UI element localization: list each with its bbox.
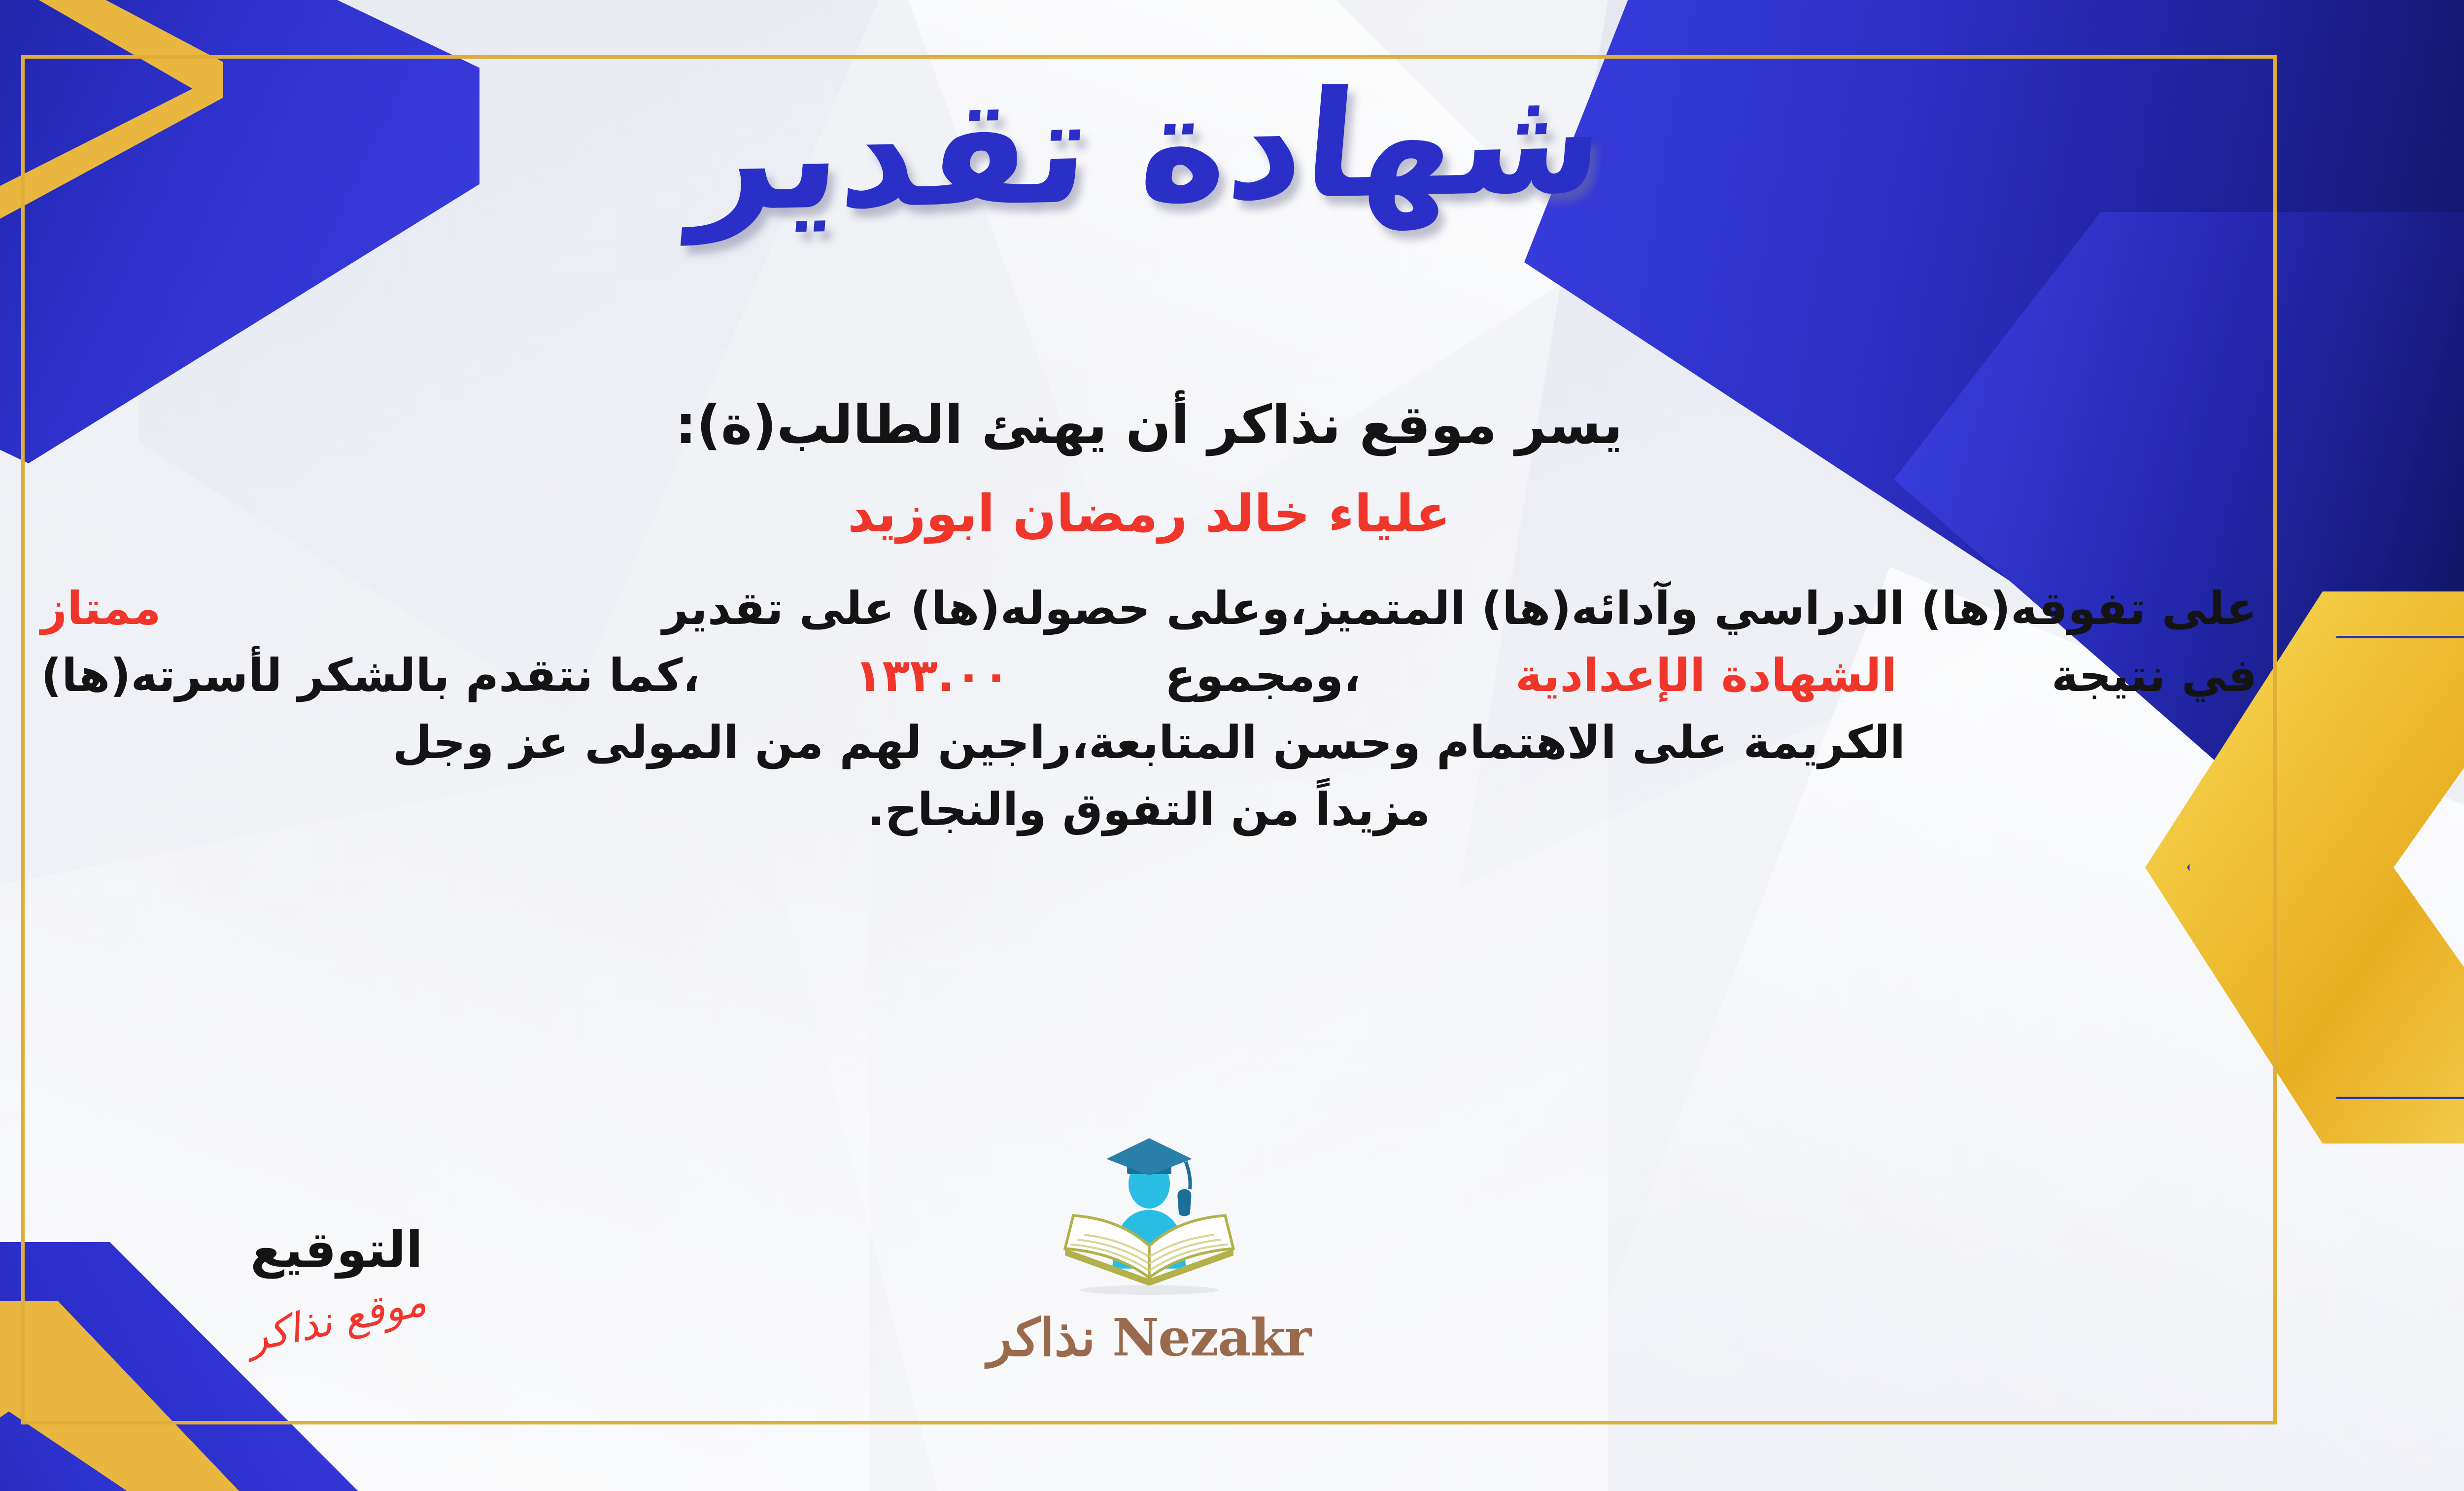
top-left-blue-chevron — [0, 0, 479, 463]
body-line-2-prefix: في نتيجة — [2052, 642, 2257, 709]
intro-line: يسر موقع نذاكر أن يهنئ الطالب(ة): — [41, 394, 2257, 456]
body-line-1-text: على تفوقه(ها) الدراسي وآدائه(ها) المتميز… — [662, 575, 2257, 642]
certificate-title: شهادة تقدير — [687, 55, 1611, 244]
grade-value: ممتاز — [41, 575, 161, 642]
body-line-1: على تفوقه(ها) الدراسي وآدائه(ها) المتميز… — [41, 575, 2257, 642]
certificate-canvas: شهادة تقدير يسر موقع نذاكر أن يهنئ الطال… — [0, 0, 2464, 1491]
total-score: ١٣٣.٠٠ — [855, 642, 1010, 709]
signature-label: التوقيع — [189, 1221, 484, 1279]
brand-logo-block: Nezakr نذاكر — [962, 1133, 1336, 1368]
top-left-gold-chevron-line — [0, 0, 223, 311]
body-line-2-middle: ،ومجموع — [1164, 642, 1361, 709]
body-line-2-suffix: ،كما نتقدم بالشكر لأسرته(ها) — [41, 642, 700, 709]
background-facet-f — [770, 739, 1608, 1491]
body-line-2: في نتيجة الشهادة الإعدادية ،ومجموع ١٣٣.٠… — [41, 642, 2257, 709]
exam-name: الشهادة الإعدادية — [1515, 642, 1897, 709]
brand-logo-text: Nezakr نذاكر — [962, 1307, 1336, 1368]
certificate-body: يسر موقع نذاكر أن يهنئ الطالب(ة): علياء … — [41, 394, 2257, 844]
student-name: علياء خالد رمضان ابوزيد — [41, 484, 2257, 544]
body-line-4: مزيداً من التفوق والنجاح. — [41, 776, 2257, 843]
signature-mark: موقع نذاكر — [243, 1278, 430, 1361]
certificate-title-area: شهادة تقدير — [0, 64, 2464, 234]
body-line-3: الكريمة على الاهتمام وحسن المتابعة،راجين… — [41, 709, 2257, 776]
signature-block: التوقيع موقع نذاكر — [189, 1221, 484, 1343]
graduate-book-logo-icon — [1046, 1133, 1253, 1305]
body-paragraph: على تفوقه(ها) الدراسي وآدائه(ها) المتميز… — [41, 575, 2257, 844]
